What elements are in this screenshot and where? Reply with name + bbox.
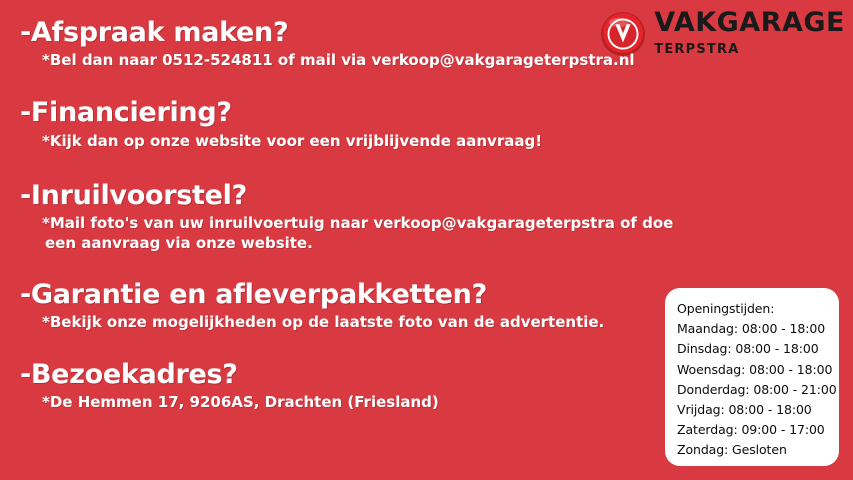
block-subtext: *De Hemmen 17, 9206AS, Drachten (Friesla…: [42, 392, 680, 412]
block-heading: -Financiering?: [20, 98, 680, 128]
block-heading: -Garantie en afleverpakketten?: [20, 280, 680, 310]
block-subtext-line: *Kijk dan op onze website voor een vrijb…: [42, 132, 542, 150]
logo-brand-name: VAKGARAGE: [654, 9, 845, 36]
opening-hours-thursday: Donderdag: 08:00 - 21:00: [677, 380, 839, 400]
opening-hours-title: Openingstijden:: [677, 299, 839, 319]
block-subtext-line: *Bel dan naar 0512-524811 of mail via ve…: [42, 51, 635, 69]
advertisement-banner: VAKGARAGE TERPSTRA -Afspraak maken? *Bel…: [0, 0, 853, 480]
logo-wordmark: VAKGARAGE TERPSTRA: [654, 9, 845, 59]
block-subtext: *Mail foto's van uw inruilvoertuig naar …: [42, 213, 680, 254]
opening-hours-sunday: Zondag: Gesloten: [677, 440, 839, 460]
opening-hours-saturday: Zaterdag: 09:00 - 17:00: [677, 420, 839, 440]
logo-brand-sub: TERPSTRA: [654, 39, 845, 57]
block-heading: -Afspraak maken?: [20, 18, 680, 48]
opening-hours-tuesday: Dinsdag: 08:00 - 18:00: [677, 339, 839, 359]
info-block-garantie: -Garantie en afleverpakketten? *Bekijk o…: [20, 280, 680, 332]
block-subtext-line: *Mail foto's van uw inruilvoertuig naar …: [42, 214, 673, 232]
info-block-inruilvoorstel: -Inruilvoorstel? *Mail foto's van uw inr…: [20, 181, 680, 254]
block-subtext-line: *Bekijk onze mogelijkheden op de laatste…: [42, 313, 604, 331]
block-subtext: *Bel dan naar 0512-524811 of mail via ve…: [42, 50, 680, 70]
block-subtext: *Bekijk onze mogelijkheden op de laatste…: [42, 312, 680, 332]
info-block-financiering: -Financiering? *Kijk dan op onze website…: [20, 98, 680, 150]
block-subtext: *Kijk dan op onze website voor een vrijb…: [42, 131, 680, 151]
info-block-afspraak: -Afspraak maken? *Bel dan naar 0512-5248…: [20, 18, 680, 70]
block-subtext-line: *De Hemmen 17, 9206AS, Drachten (Friesla…: [42, 393, 439, 411]
opening-hours-monday: Maandag: 08:00 - 18:00: [677, 319, 839, 339]
opening-hours-wednesday: Woensdag: 08:00 - 18:00: [677, 360, 839, 380]
block-subtext-line-2: een aanvraag via onze website.: [45, 233, 680, 253]
opening-hours-card: Openingstijden: Maandag: 08:00 - 18:00 D…: [665, 288, 839, 466]
opening-hours-friday: Vrijdag: 08:00 - 18:00: [677, 400, 839, 420]
info-block-bezoekadres: -Bezoekadres? *De Hemmen 17, 9206AS, Dra…: [20, 360, 680, 412]
info-blocks: -Afspraak maken? *Bel dan naar 0512-5248…: [0, 0, 680, 413]
block-heading: -Inruilvoorstel?: [20, 181, 680, 211]
block-heading: -Bezoekadres?: [20, 360, 680, 390]
